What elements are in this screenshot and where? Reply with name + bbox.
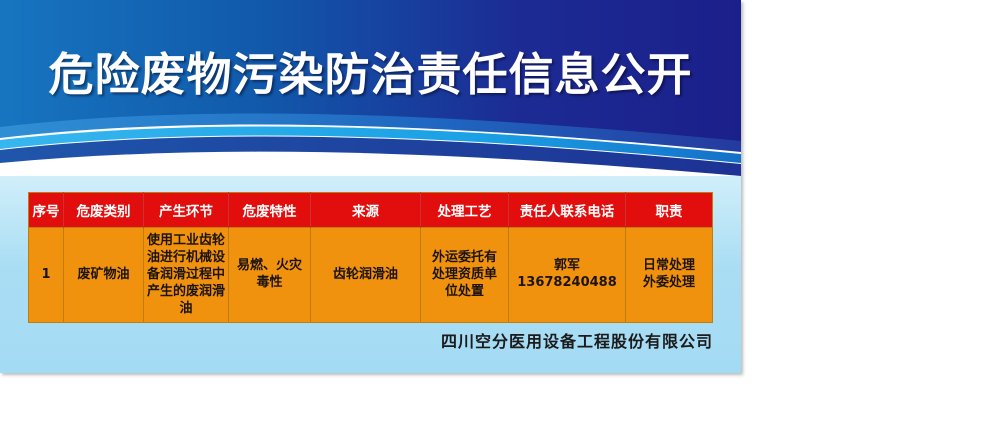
poster: 危险废物污染防治责任信息公开 序号 危废类别 产生环节 危废特性 来源 处理工艺… [0, 0, 741, 373]
page-title-text: 危险废物污染防治责任信息公开 [48, 38, 692, 103]
cell-property: 易燃、火灾 毒性 [229, 228, 311, 323]
company-name: 四川空分医用设备工程股份有限公司 [0, 328, 713, 352]
cell-process-line: 位处置 [424, 284, 505, 301]
column-header-source: 来源 [311, 193, 421, 228]
cell-process: 外运委托有 处理资质单 位处置 [421, 228, 509, 323]
cell-category: 废矿物油 [64, 228, 144, 323]
cell-duty-line: 日常处理 [629, 258, 709, 275]
table-row: 1 废矿物油 使用工业齿轮油进行机械设备润滑过程中产生的废润滑油 易燃、火灾 毒… [29, 228, 713, 323]
cell-property-line: 易燃、火灾 [232, 258, 307, 275]
contact-phone-number: 13678240488 [512, 275, 622, 292]
hazardous-waste-table: 序号 危废类别 产生环节 危废特性 来源 处理工艺 责任人联系电话 职责 1 废… [28, 192, 713, 323]
cell-stage: 使用工业齿轮油进行机械设备润滑过程中产生的废润滑油 [144, 228, 229, 323]
cell-source: 齿轮润滑油 [311, 228, 421, 323]
column-header-category: 危废类别 [64, 193, 144, 228]
banner: 危险废物污染防治责任信息公开 [0, 0, 741, 176]
cell-property-line: 毒性 [232, 275, 307, 292]
cell-process-line: 处理资质单 [424, 267, 505, 284]
column-header-stage: 产生环节 [144, 193, 229, 228]
cell-seq: 1 [29, 228, 64, 323]
contact-person-name: 郭军 [512, 258, 622, 275]
column-header-contact: 责任人联系电话 [509, 193, 626, 228]
column-header-duty: 职责 [626, 193, 713, 228]
table-header-row: 序号 危废类别 产生环节 危废特性 来源 处理工艺 责任人联系电话 职责 [29, 193, 713, 228]
cell-duty: 日常处理 外委处理 [626, 228, 713, 323]
cell-contact: 郭军 13678240488 [509, 228, 626, 323]
column-header-seq: 序号 [29, 193, 64, 228]
column-header-process: 处理工艺 [421, 193, 509, 228]
cell-process-line: 外运委托有 [424, 250, 505, 267]
cell-duty-line: 外委处理 [629, 275, 709, 292]
column-header-property: 危废特性 [229, 193, 311, 228]
page-title: 危险废物污染防治责任信息公开 [0, 0, 741, 140]
